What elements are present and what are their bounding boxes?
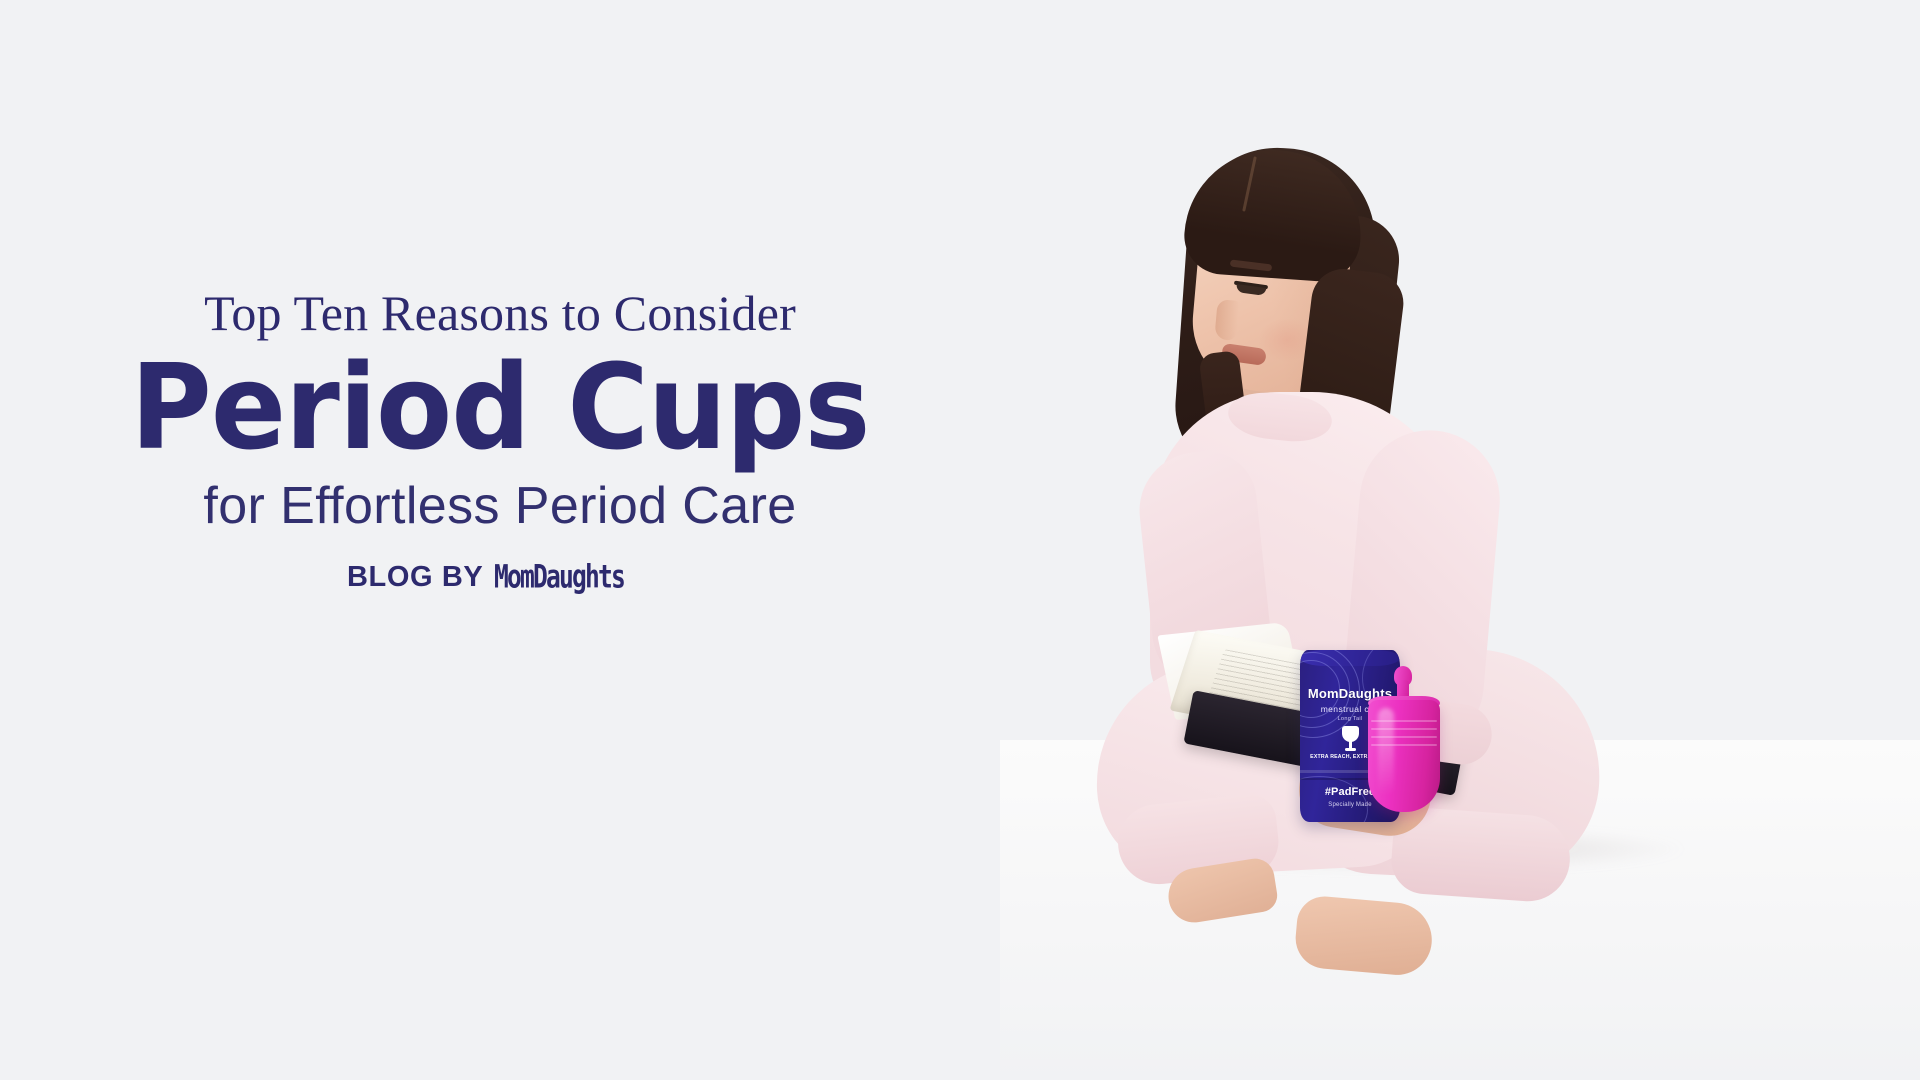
menstrual-cup-product: [1362, 662, 1444, 832]
byline-brand-logo: MomDaughts: [494, 559, 624, 596]
subtitle-text: for Effortless Period Care: [0, 477, 1000, 535]
model-figure: [1000, 0, 1920, 1080]
blog-hero-banner: MomDaughts menstrual cup Long Tail EXTRA…: [0, 0, 1920, 1080]
hero-photo: [1000, 0, 1920, 1080]
nose: [1214, 299, 1239, 341]
cup-highlight: [1378, 708, 1394, 796]
hero-copy-block: Top Ten Reasons to Consider Period Cups …: [0, 286, 1000, 595]
byline-label: BLOG BY: [347, 561, 483, 594]
product-lockup: MomDaughts menstrual cup Long Tail EXTRA…: [1300, 640, 1480, 840]
page-title: Period Cups: [30, 347, 970, 467]
swirl-decoration-icon: [1300, 776, 1368, 822]
eyebrow-text: Top Ten Reasons to Consider: [0, 286, 1000, 341]
byline: BLOG BY MomDaughts: [0, 560, 1000, 595]
hair-top: [1182, 144, 1367, 284]
menstrual-cup-icon: [1342, 726, 1359, 752]
foot-right: [1293, 894, 1435, 978]
